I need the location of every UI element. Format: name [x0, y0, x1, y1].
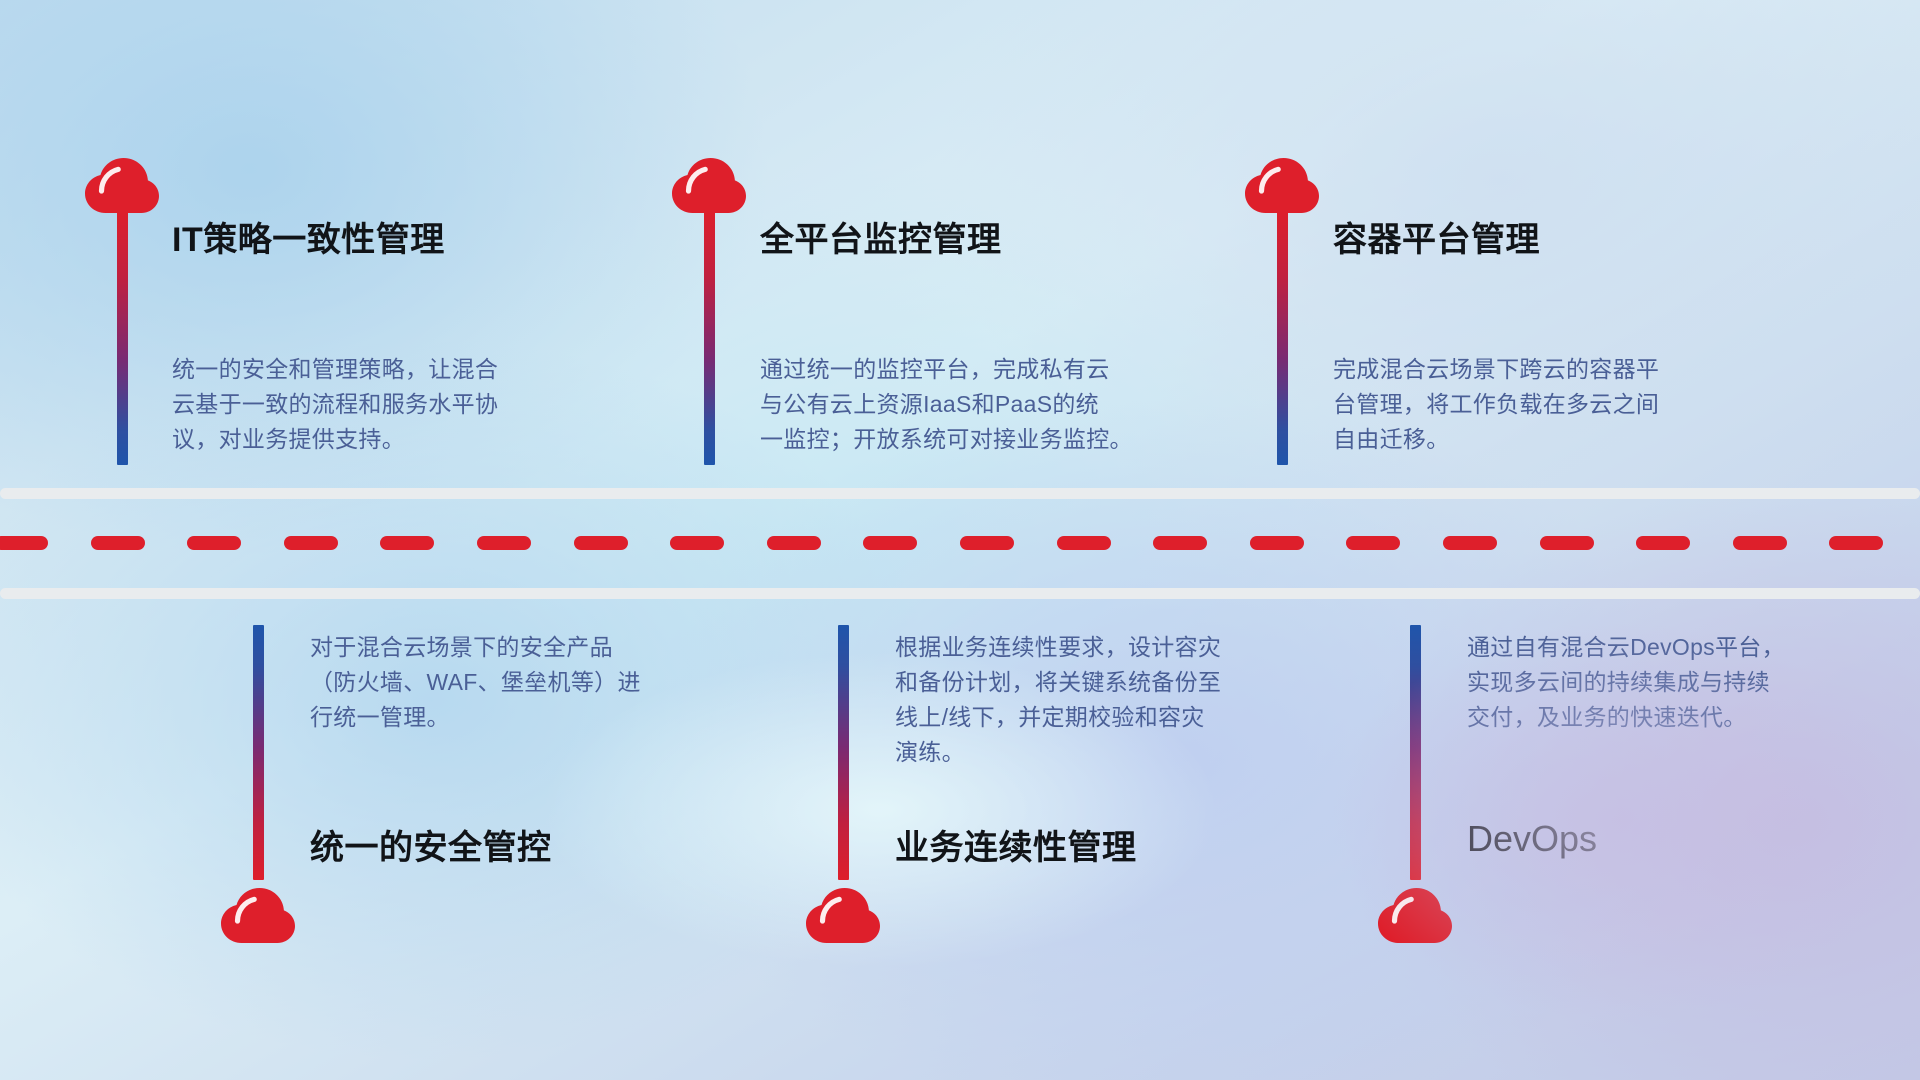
desc-line: 实现多云间的持续集成与持续	[1467, 665, 1887, 700]
stem-connector	[253, 625, 264, 880]
road-dash	[574, 536, 628, 550]
desc-line: 和备份计划，将关键系统备份至	[895, 665, 1335, 700]
desc-line: 统一的安全和管理策略，让混合	[172, 352, 602, 387]
cloud-pin-icon	[1245, 158, 1319, 214]
road-dash	[1153, 536, 1207, 550]
road-dash	[767, 536, 821, 550]
desc-line: 线上/线下，并定期校验和容灾	[895, 700, 1335, 735]
desc-line: 议，对业务提供支持。	[172, 422, 602, 457]
desc-line: （防火墙、WAF、堡垒机等）进	[310, 665, 740, 700]
road-dash	[670, 536, 724, 550]
cloud-pin-icon	[806, 888, 880, 944]
road-dash	[1057, 536, 1111, 550]
desc-line: 演练。	[895, 735, 1335, 770]
item-description: 完成混合云场景下跨云的容器平 台管理，将工作负载在多云之间 自由迁移。	[1333, 352, 1783, 457]
road-dash	[1443, 536, 1497, 550]
desc-line: 通过自有混合云DevOps平台，	[1467, 630, 1887, 665]
road-dash	[91, 536, 145, 550]
item-title: DevOps	[1467, 818, 1597, 860]
road-dash	[863, 536, 917, 550]
infographic-canvas: IT策略一致性管理 统一的安全和管理策略，让混合 云基于一致的流程和服务水平协 …	[0, 0, 1920, 1080]
road-dash	[284, 536, 338, 550]
road-dash	[1733, 536, 1787, 550]
item-title: 全平台监控管理	[760, 212, 1002, 261]
desc-line: 行统一管理。	[310, 700, 740, 735]
desc-line: 云基于一致的流程和服务水平协	[172, 387, 602, 422]
desc-line: 对于混合云场景下的安全产品	[310, 630, 740, 665]
stem-connector	[117, 210, 128, 465]
road-dash	[477, 536, 531, 550]
item-description: 对于混合云场景下的安全产品 （防火墙、WAF、堡垒机等）进 行统一管理。	[310, 630, 740, 735]
road-dash	[1250, 536, 1304, 550]
cloud-pin-icon	[221, 888, 295, 944]
stem-connector	[838, 625, 849, 880]
road-dash	[1540, 536, 1594, 550]
item-title: 统一的安全管控	[310, 820, 552, 869]
road-dash	[960, 536, 1014, 550]
item-description: 通过自有混合云DevOps平台， 实现多云间的持续集成与持续 交付，及业务的快速…	[1467, 630, 1887, 735]
road-dash-line	[0, 536, 1920, 550]
cloud-pin-icon	[85, 158, 159, 214]
item-description: 根据业务连续性要求，设计容灾 和备份计划，将关键系统备份至 线上/线下，并定期校…	[895, 630, 1335, 770]
item-title: IT策略一致性管理	[172, 212, 445, 261]
stem-connector	[1277, 210, 1288, 465]
road-dash	[1346, 536, 1400, 550]
road-edge-bottom	[0, 588, 1920, 599]
item-description: 统一的安全和管理策略，让混合 云基于一致的流程和服务水平协 议，对业务提供支持。	[172, 352, 602, 457]
desc-line: 自由迁移。	[1333, 422, 1783, 457]
item-title: 容器平台管理	[1333, 212, 1540, 261]
stem-connector	[1410, 625, 1421, 880]
desc-line: 通过统一的监控平台，完成私有云	[760, 352, 1230, 387]
road-dash	[1829, 536, 1883, 550]
desc-line: 一监控；开放系统可对接业务监控。	[760, 422, 1230, 457]
road-dash	[187, 536, 241, 550]
desc-line: 完成混合云场景下跨云的容器平	[1333, 352, 1783, 387]
desc-line: 根据业务连续性要求，设计容灾	[895, 630, 1335, 665]
cloud-pin-icon	[1378, 888, 1452, 944]
road-edge-top	[0, 488, 1920, 499]
desc-line: 交付，及业务的快速迭代。	[1467, 700, 1887, 735]
road-dash	[1636, 536, 1690, 550]
stem-connector	[704, 210, 715, 465]
road-dash	[0, 536, 48, 550]
item-title: 业务连续性管理	[895, 820, 1137, 869]
desc-line: 与公有云上资源IaaS和PaaS的统	[760, 387, 1230, 422]
road-dash	[380, 536, 434, 550]
desc-line: 台管理，将工作负载在多云之间	[1333, 387, 1783, 422]
cloud-pin-icon	[672, 158, 746, 214]
item-description: 通过统一的监控平台，完成私有云 与公有云上资源IaaS和PaaS的统 一监控；开…	[760, 352, 1230, 457]
